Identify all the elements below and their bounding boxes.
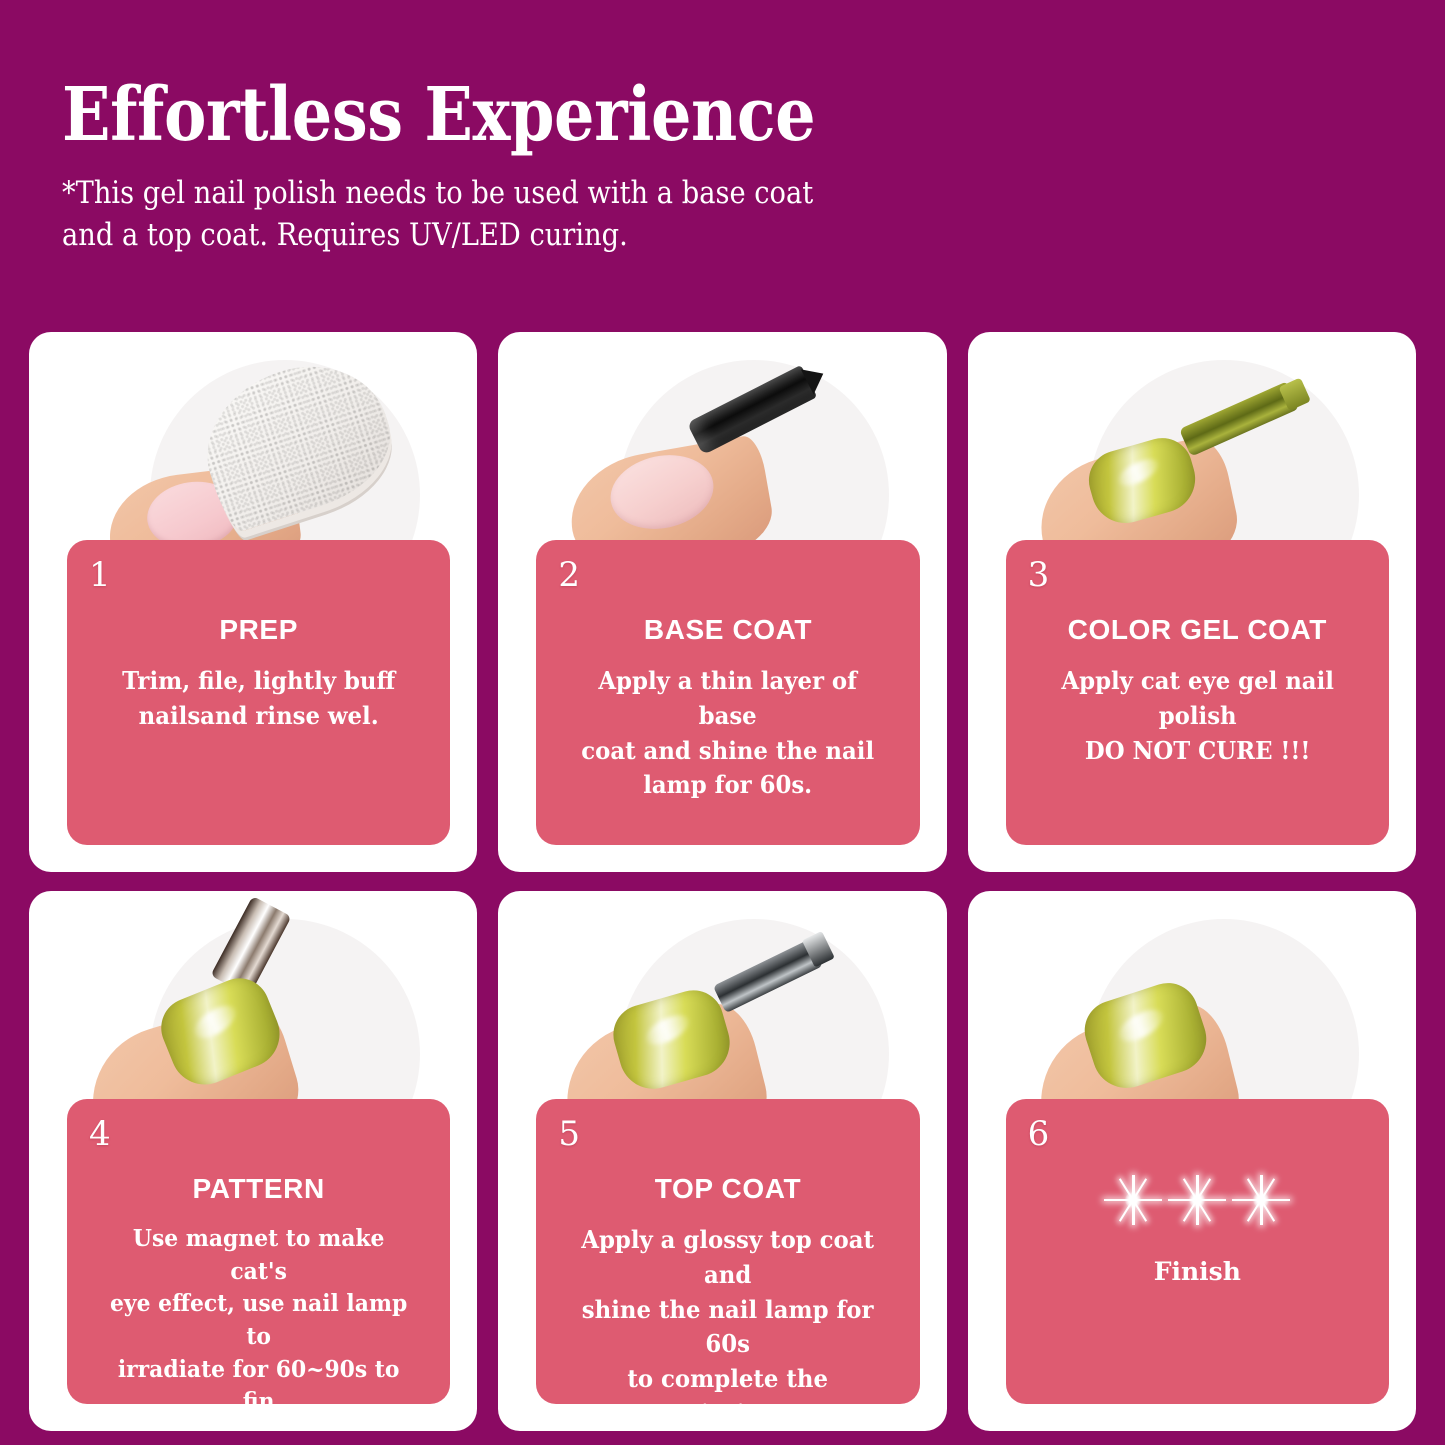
finish-label: Finish (1032, 1257, 1363, 1286)
step-card-3: 3 COLOR GEL COAT Apply cat eye gel nail … (968, 332, 1416, 872)
page-title: Effortless Experience (62, 78, 1180, 153)
step-heading: TOP COAT (562, 1173, 893, 1205)
step-number: 4 (89, 1117, 111, 1151)
step-card-2: 2 BASE COAT Apply a thin layer of base c… (498, 332, 946, 872)
step-description: Apply a glossy top coat and shine the na… (571, 1223, 886, 1431)
step-card-5: 5 TOP COAT Apply a glossy top coat and s… (498, 891, 946, 1431)
step-number: 3 (1028, 558, 1050, 592)
sparkle-group (1032, 1169, 1363, 1231)
step-4-panel: 4 PATTERN Use magnet to make cat's eye e… (67, 1099, 450, 1404)
step-6-panel: 6 Finish (1006, 1099, 1389, 1404)
step-description: Apply a thin layer of base coat and shin… (571, 664, 886, 803)
sparkle-icon (1104, 1171, 1162, 1229)
step-heading: PREP (93, 614, 424, 646)
step-heading: BASE COAT (562, 614, 893, 646)
sparkle-icon (1168, 1171, 1226, 1229)
step-heading: PATTERN (93, 1173, 424, 1205)
steps-grid: 1 PREP Trim, file, lightly buff nailsand… (29, 332, 1416, 1431)
step-number: 5 (558, 1117, 580, 1151)
infographic-page: Effortless Experience *This gel nail pol… (0, 0, 1445, 1445)
page-subtitle: *This gel nail polish needs to be used w… (62, 173, 1206, 255)
step-number: 1 (89, 558, 111, 592)
step-description: Apply cat eye gel nail polish DO NOT CUR… (1040, 664, 1355, 768)
step-card-4: 4 PATTERN Use magnet to make cat's eye e… (29, 891, 477, 1431)
step-number: 6 (1028, 1117, 1050, 1151)
header: Effortless Experience *This gel nail pol… (62, 78, 1362, 256)
step-description: Use magnet to make cat's eye effect, use… (101, 1223, 416, 1431)
step-heading: COLOR GEL COAT (1032, 614, 1363, 646)
step-number: 2 (558, 558, 580, 592)
step-card-6: 6 Finish (968, 891, 1416, 1431)
step-card-1: 1 PREP Trim, file, lightly buff nailsand… (29, 332, 477, 872)
step-description: Trim, file, lightly buff nailsand rinse … (101, 664, 416, 734)
step-1-panel: 1 PREP Trim, file, lightly buff nailsand… (67, 540, 450, 845)
step-3-panel: 3 COLOR GEL COAT Apply cat eye gel nail … (1006, 540, 1389, 845)
step-2-panel: 2 BASE COAT Apply a thin layer of base c… (536, 540, 919, 845)
sparkle-icon (1232, 1171, 1290, 1229)
step-5-panel: 5 TOP COAT Apply a glossy top coat and s… (536, 1099, 919, 1404)
